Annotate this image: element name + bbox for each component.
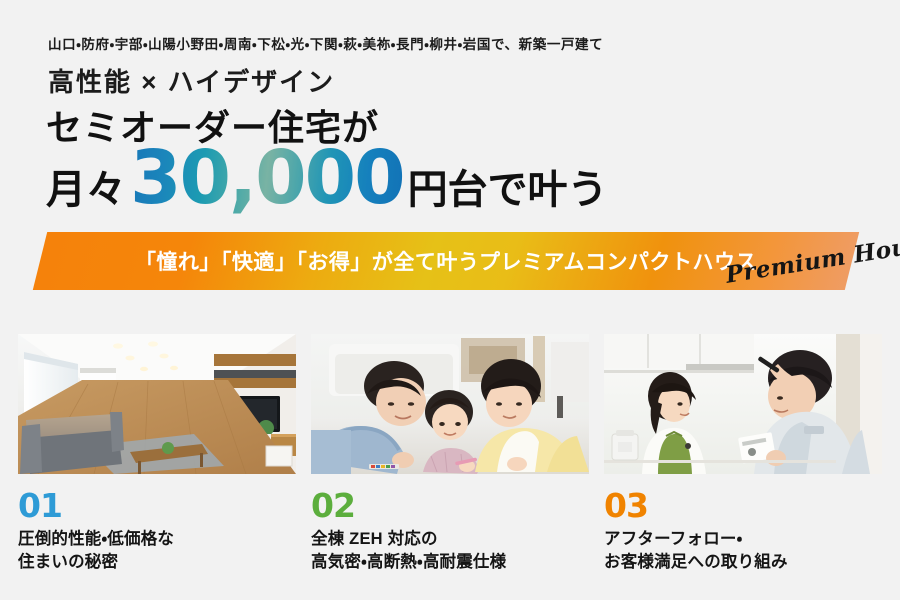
promo-banner: 山口・防府・宇部・山陽小野田・周南・下松・光・下関・萩・美祢・長門・柳井・岩国で… (0, 0, 900, 600)
feature-card-list: 01 圧倒的性能・低価格な 住まいの秘密 (18, 334, 882, 574)
feature-card-02[interactable]: 02 全棟 ZEH 対応の 高気密・高断熱・高耐震仕様 (311, 334, 589, 574)
price-headline: 月々 30,000 円台で叶う (46, 141, 608, 215)
family-on-floor-photo (311, 334, 589, 474)
price-prefix-monthly: 月々 (46, 170, 126, 210)
feature-card-03[interactable]: 03 アフターフォロー・ お客様満足への取り組み (604, 334, 882, 574)
card-title-02-line2: 高気密・高断熱・高耐震仕様 (311, 551, 589, 574)
card-title-03: アフターフォロー・ お客様満足への取り組み (604, 528, 882, 574)
card-number-01: 01 (18, 489, 296, 522)
headline-performance-design: 高性能 × ハイデザイン (48, 62, 335, 99)
price-amount: 30,000 (130, 141, 404, 215)
card-title-01-line2: 住まいの秘密 (18, 551, 296, 574)
after-service-visit-photo (604, 334, 882, 474)
card-title-01-line1: 圧倒的性能・低価格な (18, 528, 296, 551)
price-suffix-yen-range: 円台で叶う (408, 170, 608, 210)
card-title-02: 全棟 ZEH 対応の 高気密・高断熱・高耐震仕様 (311, 528, 589, 574)
card-number-03: 03 (604, 489, 882, 522)
living-room-interior-photo (18, 334, 296, 474)
card-title-03-line2: お客様満足への取り組み (604, 551, 882, 574)
feature-card-01[interactable]: 01 圧倒的性能・低価格な 住まいの秘密 (18, 334, 296, 574)
card-number-02: 02 (311, 489, 589, 522)
card-title-02-line1: 全棟 ZEH 対応の (311, 528, 589, 551)
card-title-01: 圧倒的性能・低価格な 住まいの秘密 (18, 528, 296, 574)
card-title-03-line1: アフターフォロー・ (604, 528, 882, 551)
service-area-line: 山口・防府・宇部・山陽小野田・周南・下松・光・下関・萩・美祢・長門・柳井・岩国で… (48, 33, 603, 53)
